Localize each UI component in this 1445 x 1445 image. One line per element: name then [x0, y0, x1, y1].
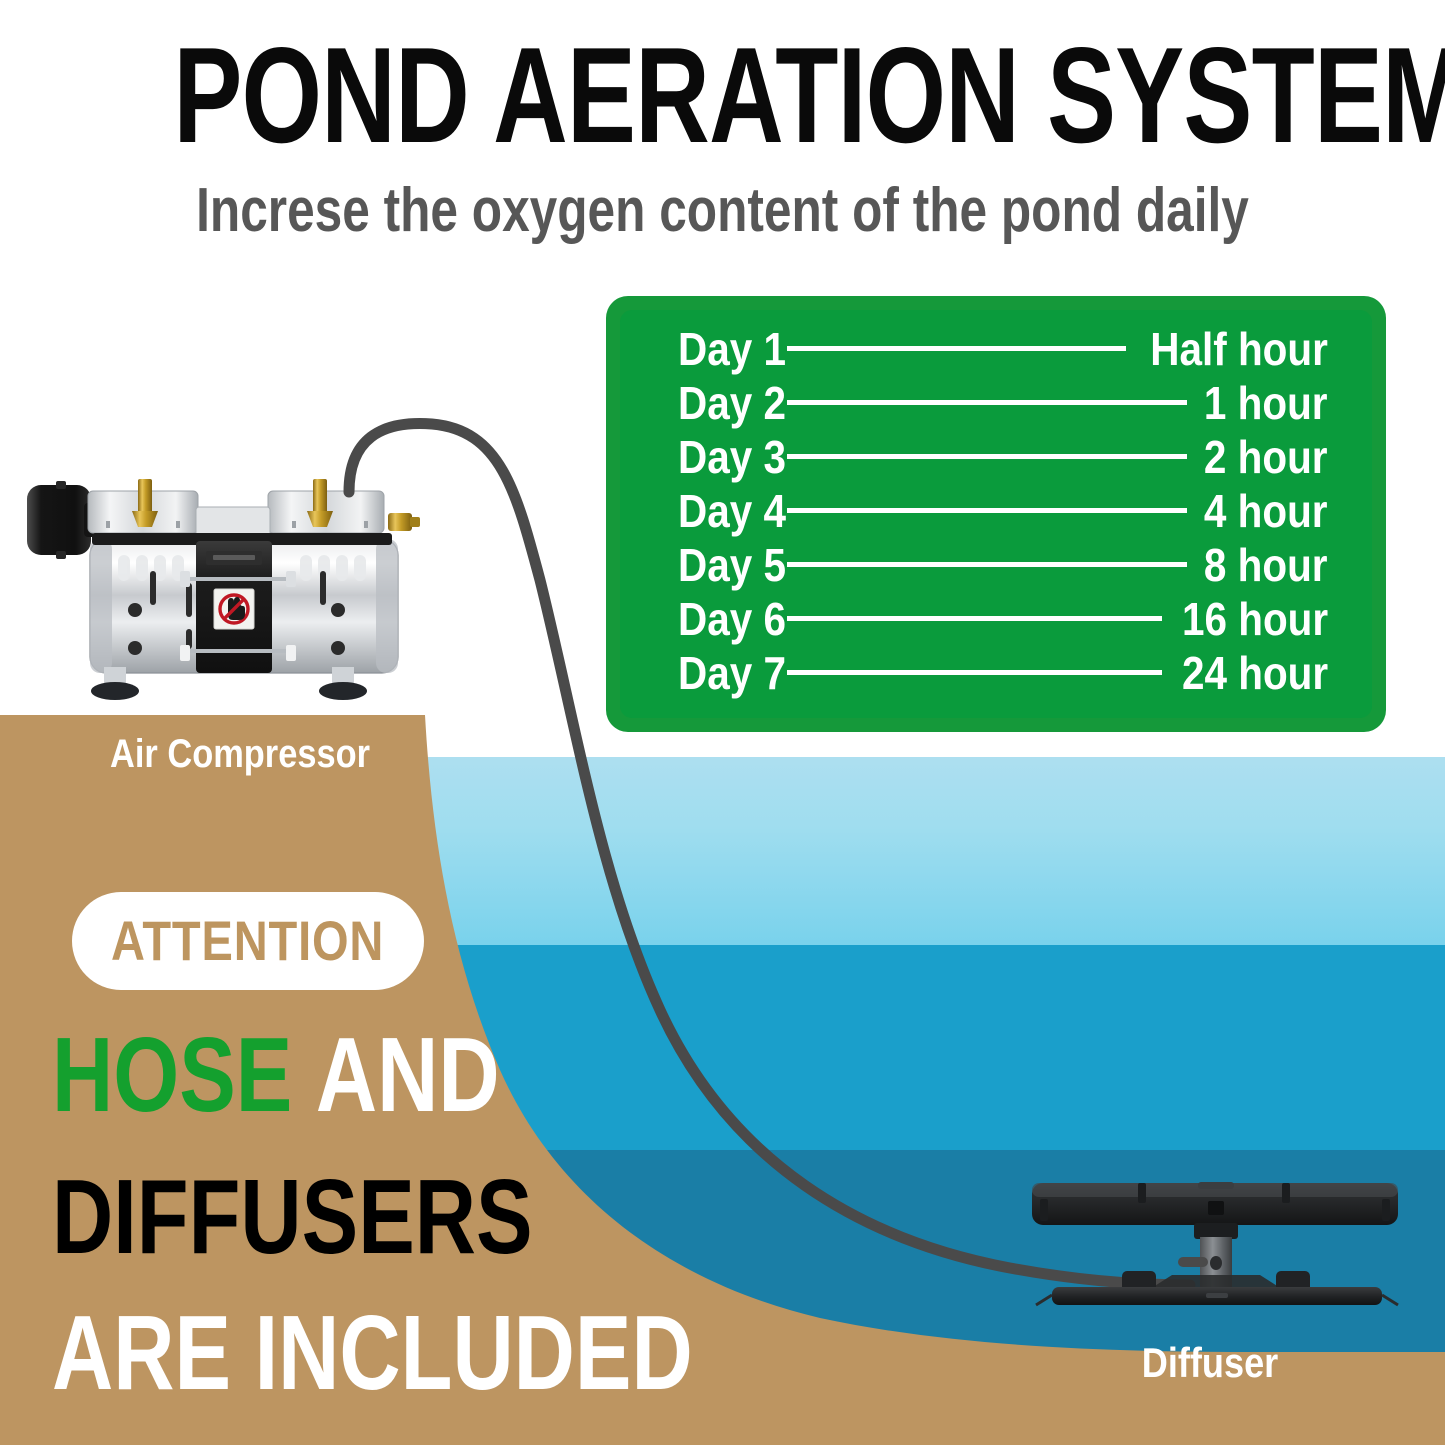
- page-subtitle: Increse the oxygen content of the pond d…: [145, 176, 1301, 246]
- diffuser-hose-barb: [1178, 1257, 1208, 1267]
- schedule-connector-rule: [787, 616, 1162, 621]
- schedule-row: Day 4 4 hour: [678, 484, 1328, 538]
- schedule-duration-value: 8 hour: [1204, 542, 1328, 588]
- attention-badge-label: ATTENTION: [111, 912, 384, 970]
- schedule-day-label: Day 7: [678, 650, 786, 696]
- promo-hose-word: HOSE: [52, 1016, 292, 1134]
- schedule-day-label: Day 1: [678, 326, 786, 372]
- schedule-connector-rule: [787, 454, 1188, 459]
- compressor-bracket: [286, 645, 296, 661]
- schedule-day-label: Day 4: [678, 488, 786, 534]
- diffuser-disc: [1032, 1182, 1398, 1225]
- schedule-connector-rule: [787, 508, 1188, 513]
- promo-line-1: HOSE AND: [52, 1022, 500, 1128]
- schedule-connector-rule: [787, 562, 1188, 567]
- page-title: POND AERATION SYSTEMS: [173, 36, 1271, 154]
- schedule-row: Day 7 24 hour: [678, 646, 1328, 700]
- promo-line-3: ARE INCLUDED: [52, 1300, 693, 1406]
- diffuser-base-plate: [1036, 1271, 1398, 1305]
- air-compressor-illustration: [0, 455, 450, 725]
- schedule-duration-value: 4 hour: [1204, 488, 1328, 534]
- schedule-row: Day 1 Half hour: [678, 322, 1328, 376]
- schedule-row: Day 2 1 hour: [678, 376, 1328, 430]
- infographic-poster: POND AERATION SYSTEMS Increse the oxygen…: [0, 0, 1445, 1445]
- compressor-bracket: [180, 645, 190, 661]
- attention-badge: ATTENTION: [72, 892, 424, 990]
- schedule-day-label: Day 5: [678, 542, 786, 588]
- schedule-day-label: Day 3: [678, 434, 786, 480]
- schedule-duration-value: 2 hour: [1204, 434, 1328, 480]
- promo-line-2: DIFFUSERS: [52, 1164, 533, 1270]
- aeration-schedule-card: Day 1 Half hour Day 2 1 hour Day 3 2 hou…: [606, 296, 1386, 732]
- schedule-connector-rule: [787, 670, 1162, 675]
- diffuser-label: Diffuser: [1072, 1340, 1347, 1386]
- schedule-day-label: Day 6: [678, 596, 786, 642]
- no-hands-icon: [214, 589, 254, 629]
- schedule-row: Day 3 2 hour: [678, 430, 1328, 484]
- diffuser-illustration: [1010, 1175, 1420, 1310]
- schedule-duration-value: 16 hour: [1182, 596, 1328, 642]
- schedule-duration-value: 1 hour: [1204, 380, 1328, 426]
- schedule-duration-value: 24 hour: [1182, 650, 1328, 696]
- schedule-day-label: Day 2: [678, 380, 786, 426]
- compressor-brass-fitting-side: [388, 513, 420, 531]
- air-compressor-label: Air Compressor: [85, 732, 395, 776]
- promo-and-word: AND: [316, 1016, 500, 1134]
- compressor-bracket: [286, 571, 296, 587]
- aeration-schedule-inner: Day 1 Half hour Day 2 1 hour Day 3 2 hou…: [620, 310, 1372, 718]
- schedule-row: Day 5 8 hour: [678, 538, 1328, 592]
- schedule-row: Day 6 16 hour: [678, 592, 1328, 646]
- schedule-connector-rule: [787, 400, 1188, 405]
- schedule-connector-rule: [787, 346, 1126, 351]
- compressor-bracket: [180, 571, 190, 587]
- schedule-duration-value: Half hour: [1150, 326, 1328, 372]
